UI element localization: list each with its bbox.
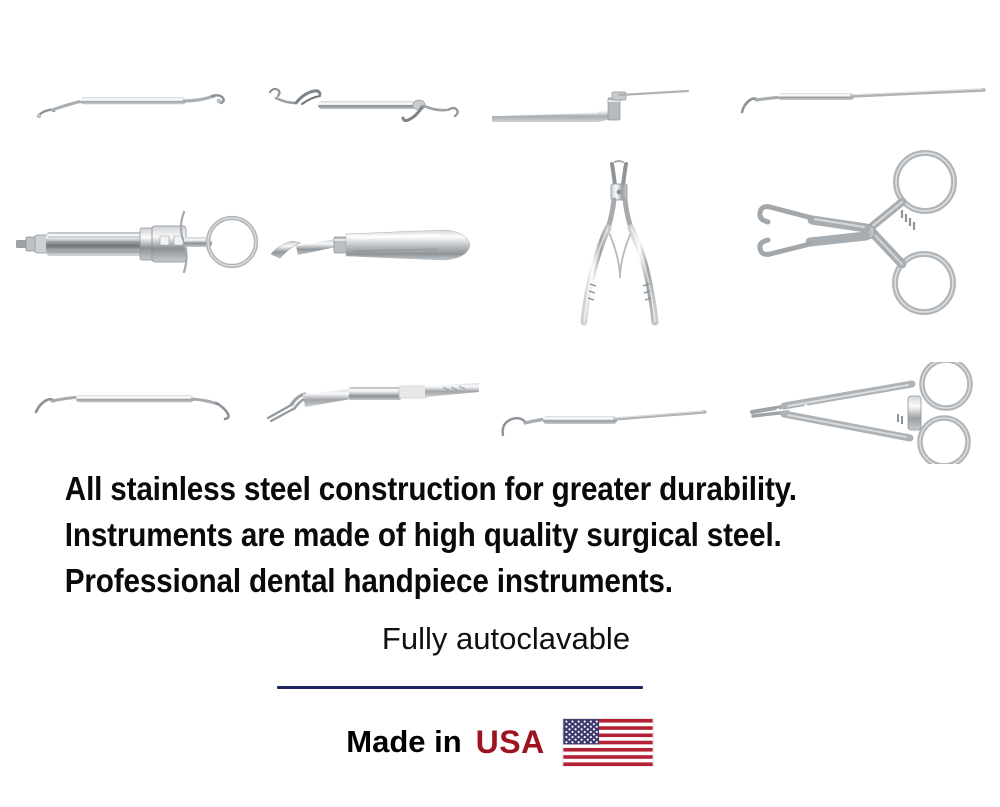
dental-instrument-gallery — [0, 0, 1000, 465]
dental-elevator — [268, 210, 492, 286]
bent-tip-probe — [734, 82, 986, 128]
copy-line-4: Fully autoclavable — [0, 604, 1000, 660]
made-in-usa-row: Made in USA — [0, 712, 1000, 772]
made-in-label: Made in — [346, 724, 461, 760]
bone-rongeur — [568, 160, 678, 332]
flat-handle-aspirator — [490, 82, 690, 132]
college-pliers — [265, 378, 485, 426]
copy-line-2: Instruments are made of high quality sur… — [0, 512, 900, 558]
double-ended-excavator — [28, 80, 238, 130]
double-ended-sickle-scaler — [262, 78, 482, 136]
needle-holder-forceps — [748, 362, 994, 464]
copy-line-3: Professional dental handpiece instrument… — [0, 558, 900, 604]
divider-container — [0, 686, 1000, 692]
aspirating-syringe — [14, 206, 260, 284]
towel-clamp-forceps — [752, 150, 992, 315]
marketing-copy: All stainless steel construction for gre… — [0, 466, 1000, 660]
dental-explorer — [497, 405, 707, 447]
copy-line-1: All stainless steel construction for gre… — [0, 466, 900, 512]
double-ended-curette — [30, 382, 242, 426]
product-image: All stainless steel construction for gre… — [0, 0, 1000, 807]
horizontal-divider — [277, 686, 643, 689]
us-flag-icon — [562, 718, 654, 767]
country-label: USA — [476, 724, 545, 761]
